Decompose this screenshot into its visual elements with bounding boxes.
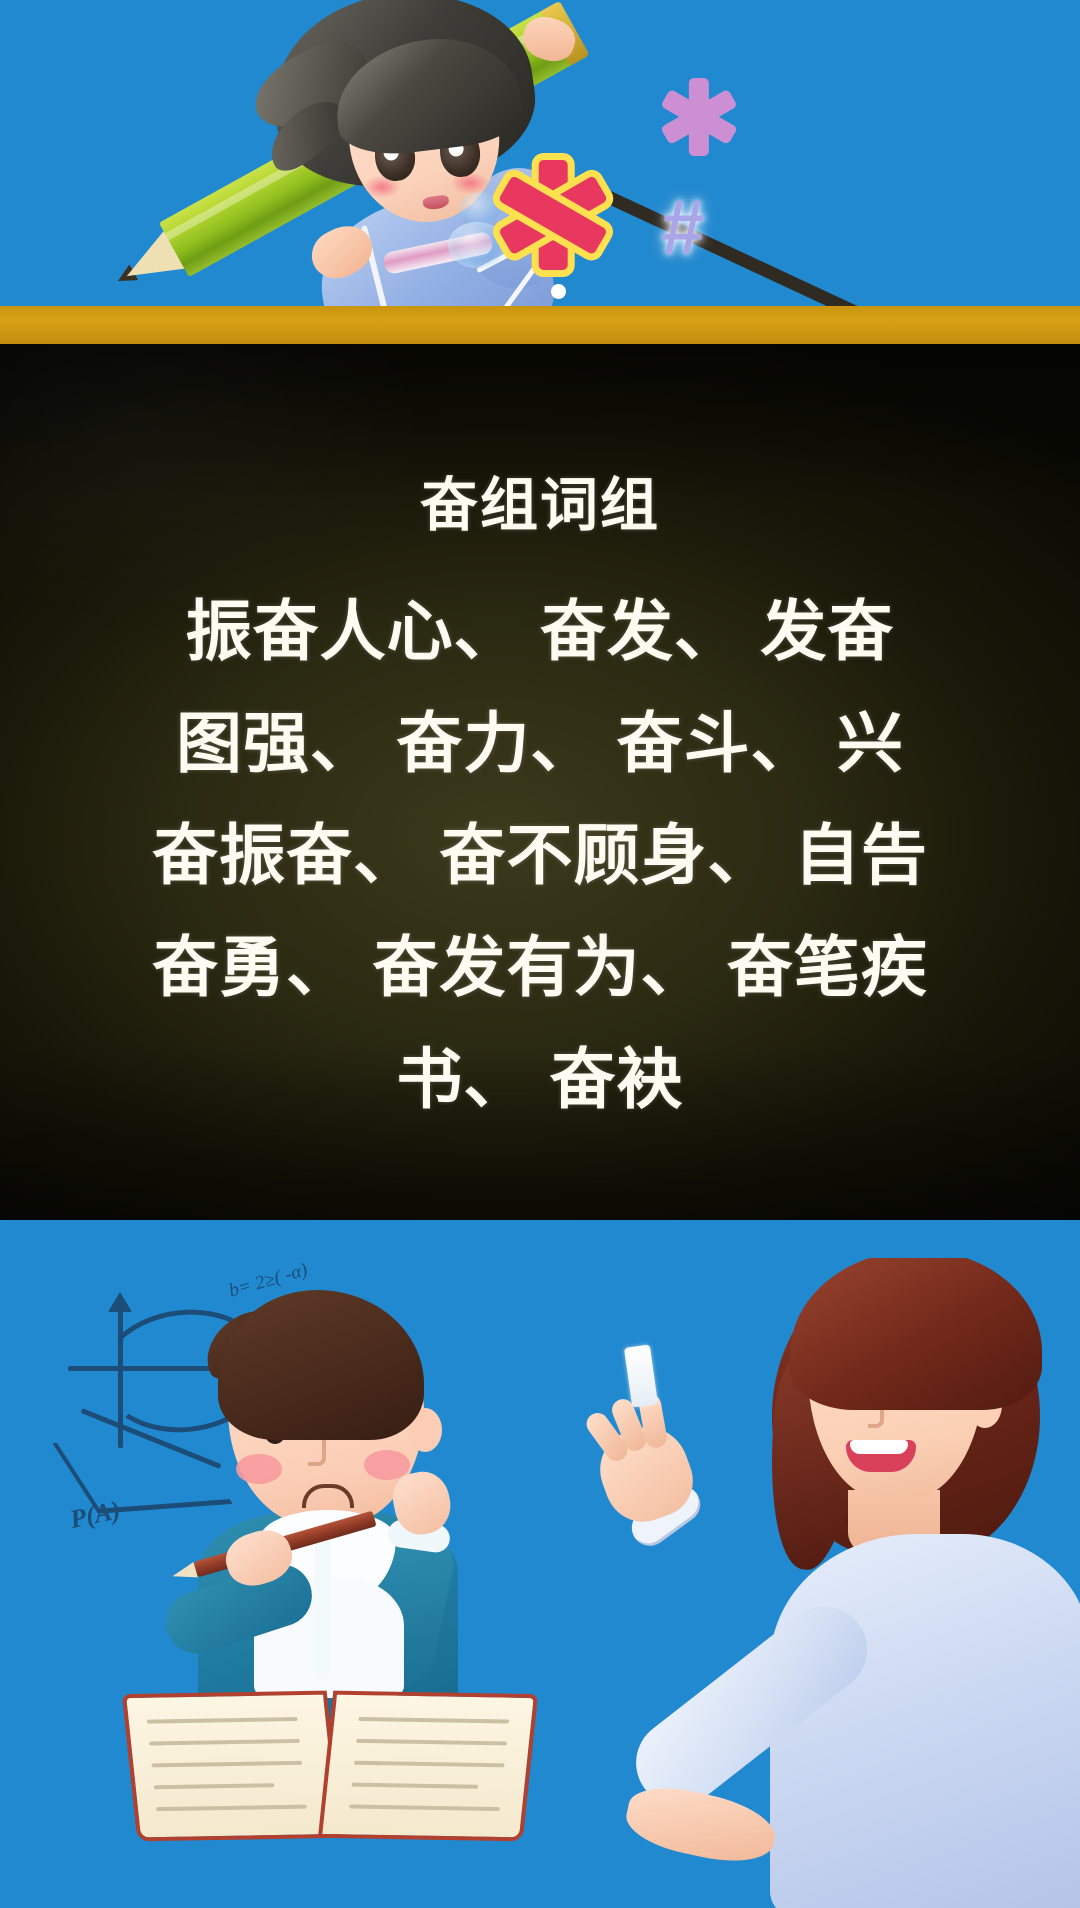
axis-arrow-up-icon xyxy=(108,1292,132,1312)
board-line: 奋勇、 奋发有为、 奋笔疾 xyxy=(0,911,1080,1023)
board-line: 图强、 奋力、 奋斗、 兴 xyxy=(0,687,1080,799)
teacher-teeth xyxy=(850,1440,908,1454)
open-book-icon xyxy=(130,1682,530,1842)
teacher-hand-lower xyxy=(621,1779,781,1871)
board-line: 奋振奋、 奋不顾身、 自告 xyxy=(0,799,1080,911)
teacher-mouth xyxy=(846,1440,916,1472)
book-page-left xyxy=(122,1691,342,1842)
board-title: 奋组词组 xyxy=(0,458,1080,542)
pointer-stick xyxy=(572,176,877,327)
blackboard-frame-top xyxy=(0,306,1080,346)
asterisk-purple-icon xyxy=(660,78,738,156)
chalk-icon xyxy=(624,1344,658,1407)
bottom-illustration: b= 2≥( -α) P(A) xyxy=(0,1258,1080,1908)
book-page-right xyxy=(318,1691,538,1842)
teacher-figure xyxy=(610,1258,1080,1908)
teacher-blouse xyxy=(770,1534,1080,1908)
asterisk-red-icon xyxy=(498,160,608,270)
drawstring-bead xyxy=(551,284,566,299)
teacher-hair-top xyxy=(790,1258,1042,1410)
bubble-highlight-icon xyxy=(460,192,500,226)
board-line: 振奋人心、 奋发、 发奋 xyxy=(0,575,1080,687)
poster-root: # 奋组词组 振奋人心、 奋发、 发奋 图强、 奋力、 奋斗、 兴 奋振奋、 奋… xyxy=(0,0,1080,1908)
hash-lavender-icon: # xyxy=(648,196,718,266)
doodle-label-text: P(A) xyxy=(67,1495,123,1535)
boy-zipper xyxy=(314,1530,330,1678)
boy-nose xyxy=(308,1440,326,1466)
top-illustration: # xyxy=(0,0,1080,346)
boy-cheek xyxy=(236,1454,282,1484)
boy-figure xyxy=(150,1278,500,1798)
board-text-block: 振奋人心、 奋发、 发奋 图强、 奋力、 奋斗、 兴 奋振奋、 奋不顾身、 自告… xyxy=(0,575,1080,1135)
board-line: 书、 奋袂 xyxy=(0,1023,1080,1135)
